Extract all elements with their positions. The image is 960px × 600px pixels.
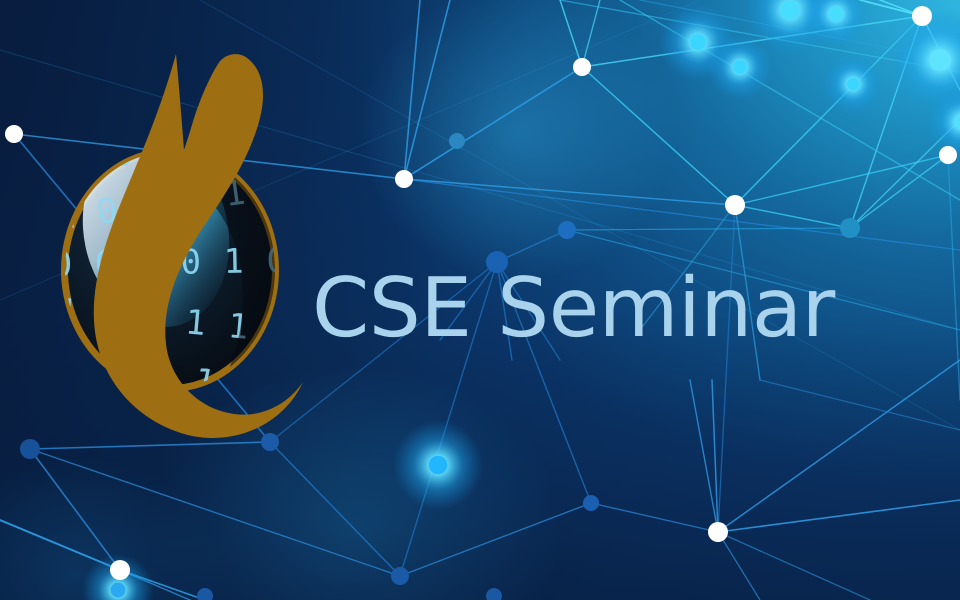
node-right-mid-dim [558, 221, 576, 239]
bokeh-cyan-8-core [111, 583, 126, 598]
bokeh-cyan-7-core [429, 456, 448, 475]
node-teal-dim [840, 218, 860, 238]
node-bottom-right [708, 522, 728, 542]
node-bottom-left [110, 560, 130, 580]
node-hub-right [725, 195, 745, 215]
node-corner-top [912, 6, 932, 26]
node-top-center [395, 170, 413, 188]
page-title: CSE Seminar [312, 268, 835, 350]
bokeh-cyan-3-core [781, 1, 800, 20]
node-bottom-far [486, 588, 502, 600]
bokeh-cyan-5-core [847, 78, 859, 90]
node-faint-cyan [449, 133, 465, 149]
bokeh-cyan-4-core [829, 7, 843, 21]
node-right-edge [939, 146, 957, 164]
bokeh-cyan-2-core [733, 60, 747, 74]
node-lower-center [391, 567, 409, 585]
bokeh-cyan-1-core [690, 34, 706, 50]
bokeh-cyan-6-core [929, 49, 950, 70]
node-upper-right [573, 58, 591, 76]
node-low-left-dim [197, 588, 213, 600]
node-mid-left-dim [20, 439, 40, 459]
node-bottom-mid-dim [583, 495, 599, 511]
node-left-edge [5, 125, 23, 143]
cse-seminar-banner: 1 0 1 1 0 1 0 1 1 0 0 0 1 0 1 0 1 0 1 1 … [0, 0, 960, 600]
cse-seminar-logo: 1 0 1 1 0 1 0 1 1 0 0 0 1 0 1 0 1 0 1 1 … [48, 52, 318, 452]
